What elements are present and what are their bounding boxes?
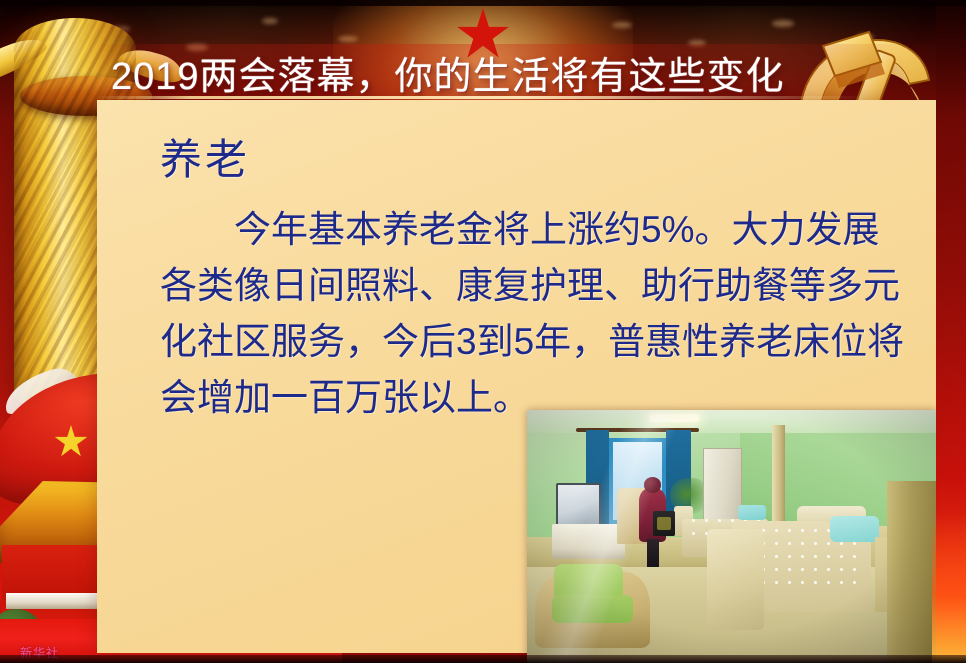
top-edge-strip	[0, 0, 966, 6]
elderly-care-room-photo	[527, 410, 936, 663]
title-underline	[97, 96, 867, 99]
photo-vignette	[527, 410, 936, 663]
section-heading: 养老	[160, 126, 250, 187]
title-banner: 2019两会落幕，你的生活将有这些变化	[97, 44, 936, 100]
light-speckle	[262, 18, 278, 24]
slide-root: 中华人民共和国万岁 新华社 2019两会落幕，你的生活将有这些变化 养老 今年基…	[0, 0, 966, 663]
bottom-edge-strip	[0, 655, 966, 663]
body-line: 化社区服务，今后3到5年，普惠性养老床位将	[160, 314, 910, 370]
body-line: 各类像日间照料、康复护理、助行助餐等多元	[160, 258, 910, 314]
right-edge-glow	[932, 513, 966, 663]
body-line: 今年基本养老金将上涨约5%。大力发展	[160, 202, 910, 258]
page-title: 2019两会落幕，你的生活将有这些变化	[111, 45, 785, 100]
body-copy: 今年基本养老金将上涨约5%。大力发展 各类像日间照料、康复护理、助行助餐等多元 …	[160, 202, 910, 426]
